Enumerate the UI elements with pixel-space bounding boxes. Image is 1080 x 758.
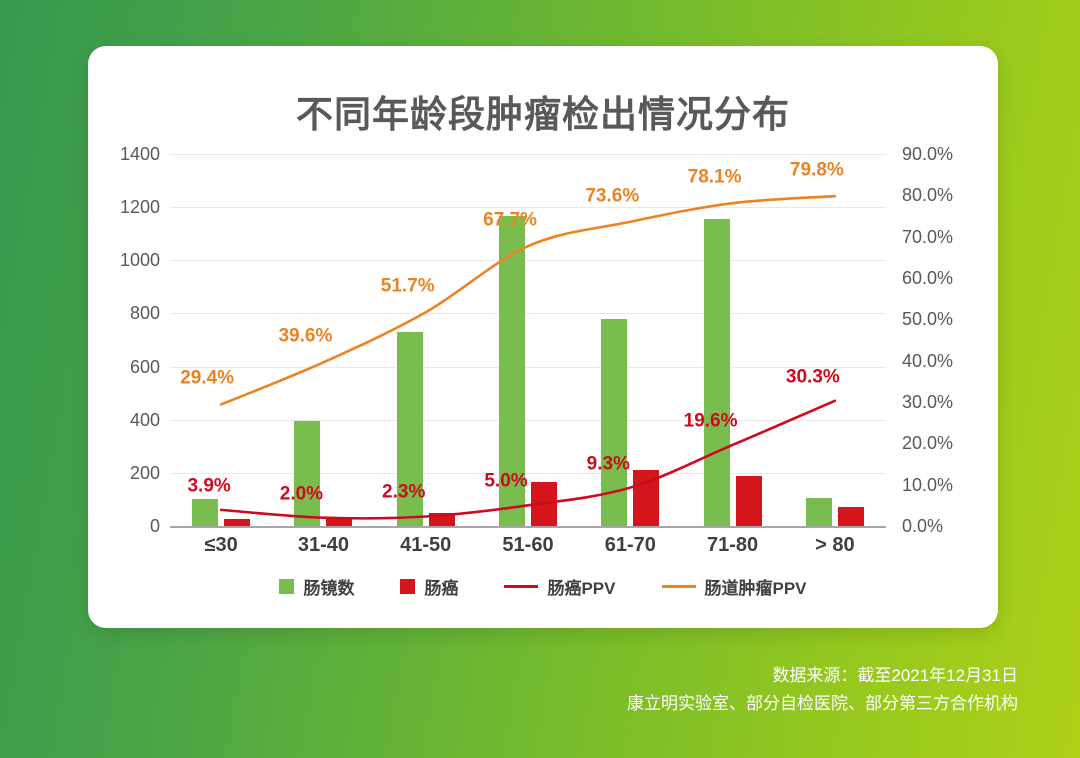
x-axis-labels: ≤3031-4041-5051-6061-7071-80> 80 (170, 534, 886, 564)
left-y-axis: 0200400600800100012001400 (88, 154, 166, 526)
data-label-cancer-ppv: 5.0% (484, 472, 527, 491)
right-axis-tick: 50.0% (902, 310, 953, 328)
right-axis-tick: 70.0% (902, 228, 953, 246)
x-axis-label: ≤30 (205, 534, 238, 557)
data-label-tumor-ppv: 29.4% (180, 369, 234, 388)
x-axis-label: 71-80 (707, 534, 758, 557)
right-axis-tick: 10.0% (902, 476, 953, 494)
legend-line-icon (662, 585, 696, 588)
right-axis-tick: 90.0% (902, 145, 953, 163)
left-axis-tick: 200 (130, 464, 160, 482)
data-label-cancer-ppv: 19.6% (684, 411, 738, 430)
data-label-cancer-ppv: 9.3% (587, 454, 630, 473)
data-label-tumor-ppv: 39.6% (278, 327, 332, 346)
left-axis-tick: 600 (130, 358, 160, 376)
left-axis-tick: 1200 (120, 198, 160, 216)
left-axis-tick: 1000 (120, 251, 160, 269)
axis-baseline (170, 526, 886, 528)
x-axis-label: 31-40 (298, 534, 349, 557)
data-label-cancer-ppv: 30.3% (786, 367, 840, 386)
right-axis-tick: 20.0% (902, 434, 953, 452)
x-axis-label: > 80 (815, 534, 854, 557)
left-axis-tick: 800 (130, 304, 160, 322)
data-label-cancer-ppv: 2.3% (382, 483, 425, 502)
source-line-1: 数据来源：截至2021年12月31日 (0, 662, 1018, 690)
data-label-cancer-ppv: 2.0% (280, 484, 323, 503)
poster-root: 不同年龄段肿瘤检出情况分布 0200400600800100012001400 … (0, 0, 1080, 758)
legend-square-icon (400, 579, 415, 594)
right-y-axis: 0.0%10.0%20.0%30.0%40.0%50.0%60.0%70.0%8… (888, 154, 993, 526)
chart-legend: 肠镜数肠癌肠癌PPV肠道肿瘤PPV (88, 574, 998, 599)
legend-label: 肠癌PPV (547, 574, 615, 599)
left-axis-tick: 0 (150, 517, 160, 535)
data-label-tumor-ppv: 67.7% (483, 211, 537, 230)
legend-square-icon (279, 579, 294, 594)
x-axis-label: 51-60 (502, 534, 553, 557)
data-label-cancer-ppv: 3.9% (187, 476, 230, 495)
data-label-tumor-ppv: 78.1% (688, 168, 742, 187)
right-axis-tick: 40.0% (902, 352, 953, 370)
legend-item[interactable]: 肠镜数 (279, 574, 354, 599)
left-axis-tick: 400 (130, 411, 160, 429)
source-footer: 数据来源：截至2021年12月31日 康立明实验室、部分自检医院、部分第三方合作… (0, 662, 1018, 718)
source-line-2: 康立明实验室、部分自检医院、部分第三方合作机构 (0, 690, 1018, 718)
chart-card: 不同年龄段肿瘤检出情况分布 0200400600800100012001400 … (88, 46, 998, 628)
chart-title: 不同年龄段肿瘤检出情况分布 (88, 84, 998, 138)
plot-area: 0200400600800100012001400 0.0%10.0%20.0%… (88, 154, 998, 574)
data-label-tumor-ppv: 79.8% (790, 161, 844, 180)
right-axis-tick: 60.0% (902, 269, 953, 287)
legend-item[interactable]: 肠癌PPV (504, 574, 615, 599)
data-label-tumor-ppv: 73.6% (585, 186, 639, 205)
right-axis-tick: 30.0% (902, 393, 953, 411)
legend-label: 肠道肿瘤PPV (705, 574, 807, 599)
right-axis-tick: 80.0% (902, 186, 953, 204)
legend-label: 肠镜数 (303, 574, 354, 599)
legend-item[interactable]: 肠癌 (400, 574, 458, 599)
right-axis-tick: 0.0% (902, 517, 943, 535)
data-label-tumor-ppv: 51.7% (381, 277, 435, 296)
legend-line-icon (504, 585, 538, 588)
x-axis-label: 61-70 (605, 534, 656, 557)
legend-label: 肠癌 (424, 574, 458, 599)
x-axis-label: 41-50 (400, 534, 451, 557)
legend-item[interactable]: 肠道肿瘤PPV (662, 574, 807, 599)
left-axis-tick: 1400 (120, 145, 160, 163)
